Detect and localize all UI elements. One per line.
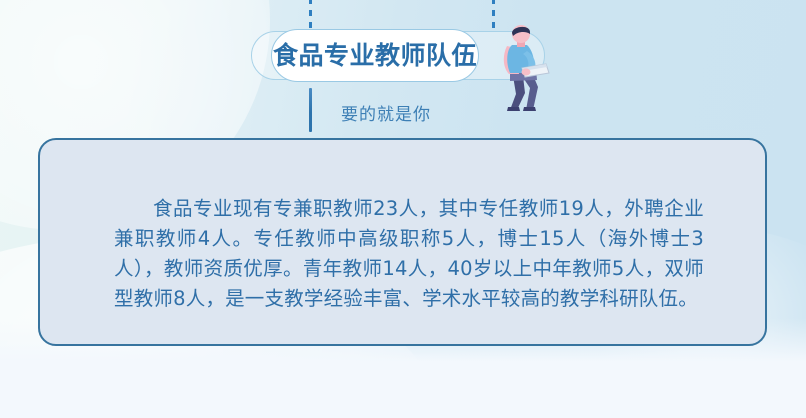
poster-canvas: 食品专业教师队伍 bbox=[0, 0, 806, 418]
page-title: 食品专业教师队伍 bbox=[273, 43, 477, 68]
person-reading-icon bbox=[486, 24, 556, 112]
background-bottom-band bbox=[0, 362, 806, 418]
title-pill: 食品专业教师队伍 bbox=[271, 29, 479, 82]
subtitle: 要的就是你 bbox=[341, 100, 431, 125]
description-paragraph: 食品专业现有专兼职教师23人，其中专任教师19人，外聘企业兼职教师4人。专任教师… bbox=[114, 194, 704, 314]
description-card: 食品专业现有专兼职教师23人，其中专任教师19人，外聘企业兼职教师4人。专任教师… bbox=[38, 138, 767, 346]
vertical-rule-icon bbox=[309, 88, 312, 132]
